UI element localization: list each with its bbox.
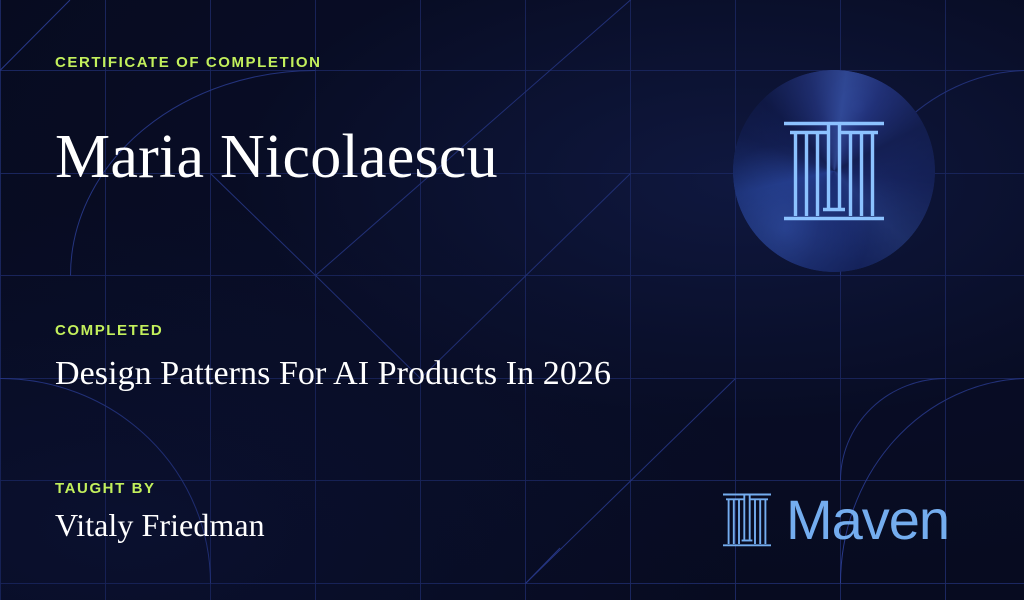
maven-wordmark-text: Maven [786, 492, 949, 548]
completed-label: COMPLETED [55, 323, 163, 338]
course-title: Design Patterns For AI Products In 2026 [55, 357, 611, 391]
certificate-card: CERTIFICATE OF COMPLETION Maria Nicolaes… [0, 0, 1024, 600]
certificate-seal-badge [733, 70, 935, 272]
certificate-eyebrow: CERTIFICATE OF COMPLETION [55, 55, 322, 70]
pillar-icon [782, 117, 886, 225]
recipient-name: Maria Nicolaescu [55, 126, 498, 188]
certificate-content: CERTIFICATE OF COMPLETION Maria Nicolaes… [0, 0, 1024, 600]
pillar-icon [722, 491, 772, 549]
instructor-name: Vitaly Friedman [55, 509, 265, 541]
taught-by-label: TAUGHT BY [55, 481, 156, 496]
maven-logo: Maven [722, 491, 949, 549]
